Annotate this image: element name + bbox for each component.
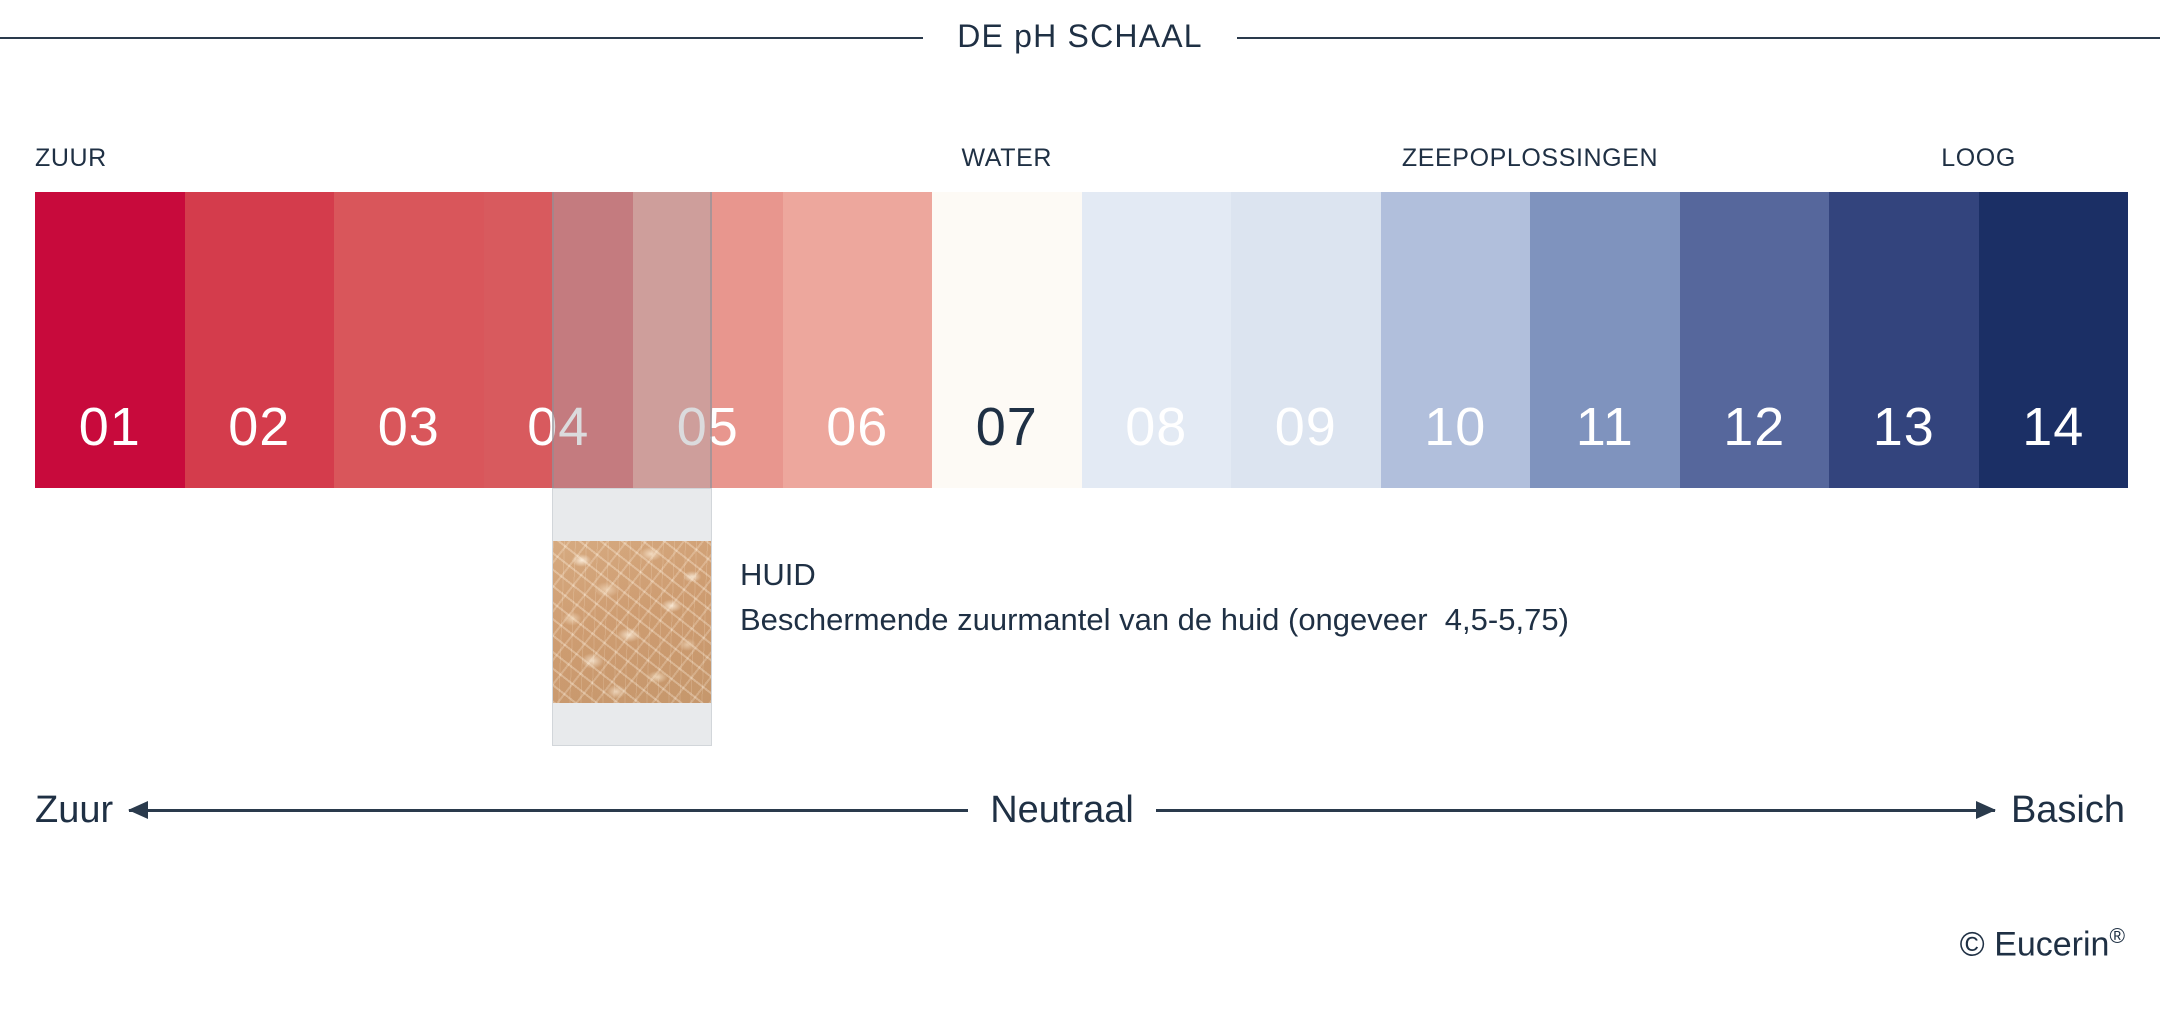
ph-cell-02[interactable]: 02 [185, 192, 335, 488]
category-label-zuur: ZUUR [35, 144, 107, 173]
ph-cell-04[interactable]: 04 [484, 192, 634, 488]
skin-callout-title: HUID [740, 556, 2040, 595]
ph-value-09: 09 [1275, 400, 1337, 488]
skin-callout: HUID Beschermende zuurmantel van de huid… [740, 556, 2040, 640]
ph-value-04: 04 [527, 400, 589, 488]
axis-arrow-right [1156, 809, 1995, 812]
copyright-icon: © [1960, 925, 1985, 963]
axis-label-basic: Basich [1995, 789, 2160, 832]
ph-value-13: 13 [1873, 400, 1935, 488]
ph-cell-12[interactable]: 12 [1680, 192, 1830, 488]
copyright-footer: © Eucerin® [1960, 925, 2125, 964]
ph-value-06: 06 [826, 400, 888, 488]
ph-cell-05[interactable]: 05 [633, 192, 783, 488]
axis-arrow-left [129, 809, 968, 812]
ph-cell-10[interactable]: 10 [1381, 192, 1531, 488]
ph-axis-row: Zuur Neutraal Basich [0, 780, 2160, 840]
skin-callout-description: Beschermende zuurmantel van de huid (ong… [740, 601, 2040, 640]
page-title: DE pH SCHAAL [923, 18, 1237, 55]
category-label-row: ZUUR WATER ZEEPOPLOSSINGEN LOOG [35, 144, 2128, 184]
ph-value-14: 14 [2022, 400, 2084, 488]
ph-value-05: 05 [677, 400, 739, 488]
chart-title-row: DE pH SCHAAL [0, 0, 2160, 72]
ph-value-03: 03 [378, 400, 440, 488]
ph-value-08: 08 [1125, 400, 1187, 488]
category-label-water: WATER [962, 144, 1053, 173]
ph-cell-09[interactable]: 09 [1231, 192, 1381, 488]
ph-cell-06[interactable]: 06 [783, 192, 933, 488]
axis-label-acidic: Zuur [0, 789, 129, 832]
ph-value-07: 07 [976, 400, 1038, 488]
ph-value-02: 02 [228, 400, 290, 488]
ph-cell-03[interactable]: 03 [334, 192, 484, 488]
title-rule-right [1237, 37, 2160, 39]
category-label-zeepoplossingen: ZEEPOPLOSSINGEN [1402, 144, 1658, 173]
ph-cell-01[interactable]: 01 [35, 192, 185, 488]
ph-value-11: 11 [1576, 400, 1634, 488]
registered-trademark-icon: ® [2109, 925, 2125, 948]
axis-label-neutral: Neutraal [968, 789, 1156, 832]
ph-value-12: 12 [1723, 400, 1785, 488]
ph-cell-07[interactable]: 07 [932, 192, 1082, 488]
ph-scale-bar: 01 02 03 04 05 06 07 08 09 10 11 12 13 1… [35, 192, 2128, 488]
ph-value-01: 01 [79, 400, 141, 488]
ph-cell-08[interactable]: 08 [1082, 192, 1232, 488]
ph-value-10: 10 [1424, 400, 1486, 488]
title-rule-left [0, 37, 923, 39]
category-label-loog: LOOG [1941, 144, 2016, 173]
ph-cell-11[interactable]: 11 [1530, 192, 1680, 488]
brand-name: Eucerin [1994, 925, 2109, 963]
skin-swatch-box [552, 488, 712, 746]
skin-texture-image [553, 541, 711, 703]
ph-cell-13[interactable]: 13 [1829, 192, 1979, 488]
ph-cell-14[interactable]: 14 [1979, 192, 2129, 488]
